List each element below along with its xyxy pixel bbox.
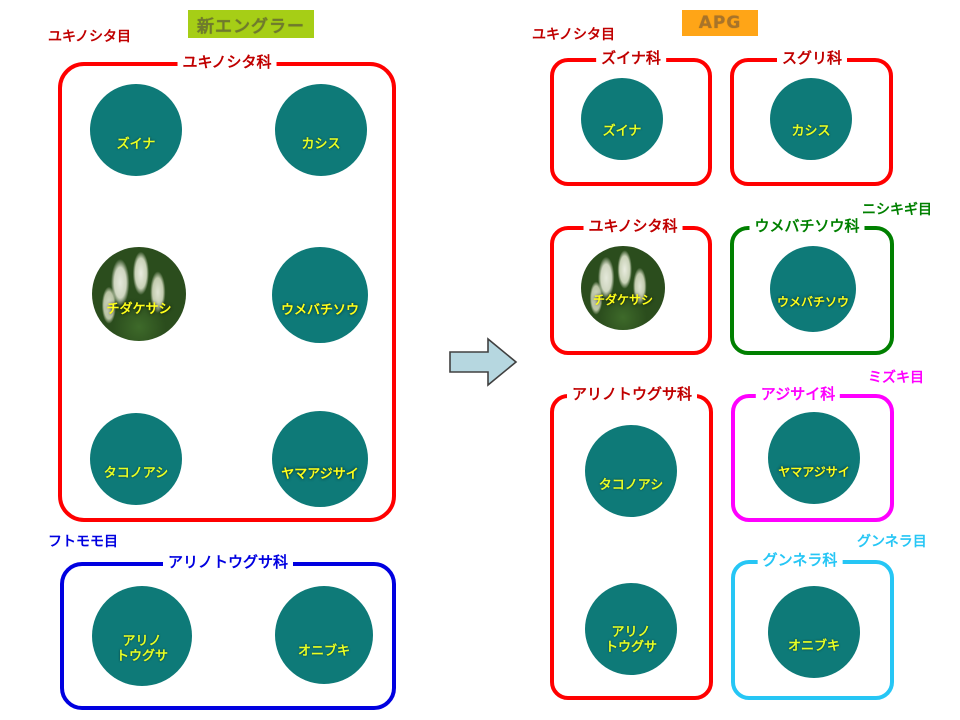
species-circle-onibuki-right: オニブキ	[768, 586, 860, 678]
species-label: カシス	[770, 124, 852, 139]
species-circle-kashisu-left: カシス	[275, 84, 367, 176]
family-title-gunnera-ka: グンネラ科	[758, 552, 843, 568]
diagram-canvas: 新エングラー APG ユキノシタ目 ユキノシタ科 ズイナ カシス チダケサシ ウ…	[0, 0, 960, 720]
species-label: ウメバチソウ	[770, 295, 856, 310]
order-label-yukinoshita-right: ユキノシタ目	[532, 24, 615, 44]
species-circle-yamaajisai-right: ヤマアジサイ	[768, 412, 860, 504]
species-circle-takonoashi-right: タコノアシ	[585, 425, 677, 517]
family-title-ajisai-ka: アジサイ科	[756, 386, 840, 402]
family-title-arinotougusa-ka-left: アリノトウグサ科	[163, 554, 293, 570]
species-circle-umebachisou-left: ウメバチソウ	[272, 247, 368, 343]
species-label: タコノアシ	[90, 466, 182, 481]
species-circle-chidakesashi-left: チダケサシ	[92, 247, 186, 341]
species-label: ヤマアジサイ	[272, 467, 368, 482]
order-label-gunnera: グンネラ目	[857, 531, 927, 551]
species-label: オニブキ	[275, 644, 373, 659]
species-label: タコノアシ	[585, 478, 677, 493]
order-label-yukinoshita-left: ユキノシタ目	[48, 26, 131, 46]
species-label: カシス	[275, 137, 367, 152]
species-label: ウメバチソウ	[272, 303, 368, 318]
species-circle-kashisu-right: カシス	[770, 78, 852, 160]
family-title-yukinoshita-ka-right: ユキノシタ科	[584, 218, 683, 234]
species-circle-arinotougusa-left: アリノ トウグサ	[92, 586, 192, 686]
order-label-mizuki: ミズキ目	[868, 367, 924, 387]
species-label: ヤマアジサイ	[768, 465, 860, 480]
species-label: オニブキ	[768, 639, 860, 654]
family-title-arinotougusa-ka-right: アリノトウグサ科	[567, 386, 697, 402]
species-label: ズイナ	[581, 124, 663, 139]
species-label: ズイナ	[90, 137, 182, 152]
transition-arrow	[448, 336, 518, 388]
species-circle-umebachisou-right: ウメバチソウ	[770, 246, 856, 332]
family-title-zuina-ka: ズイナ科	[596, 50, 666, 66]
order-label-futomomo: フトモモ目	[48, 531, 118, 551]
family-title-yukinoshita-ka-left: ユキノシタ科	[178, 54, 277, 70]
species-label: アリノ トウグサ	[92, 634, 192, 664]
family-title-suguri-ka: スグリ科	[777, 50, 847, 66]
species-circle-zuina-left: ズイナ	[90, 84, 182, 176]
species-circle-yamaajisai-left: ヤマアジサイ	[272, 411, 368, 507]
order-label-nishikigi: ニシキギ目	[862, 199, 932, 219]
species-circle-onibuki-left: オニブキ	[275, 586, 373, 684]
species-circle-chidakesashi-right: チダケサシ	[581, 246, 665, 330]
species-circle-arinotougusa-right: アリノ トウグサ	[585, 583, 677, 675]
species-circle-zuina-right: ズイナ	[581, 78, 663, 160]
species-label: アリノ トウグサ	[585, 625, 677, 655]
species-label: チダケサシ	[92, 302, 186, 317]
species-circle-takonoashi-left: タコノアシ	[90, 413, 182, 505]
species-label: チダケサシ	[581, 293, 665, 308]
system-badge-engler: 新エングラー	[188, 10, 314, 38]
family-title-umebachisou-ka: ウメバチソウ科	[749, 218, 864, 234]
system-badge-apg: APG	[682, 10, 758, 36]
